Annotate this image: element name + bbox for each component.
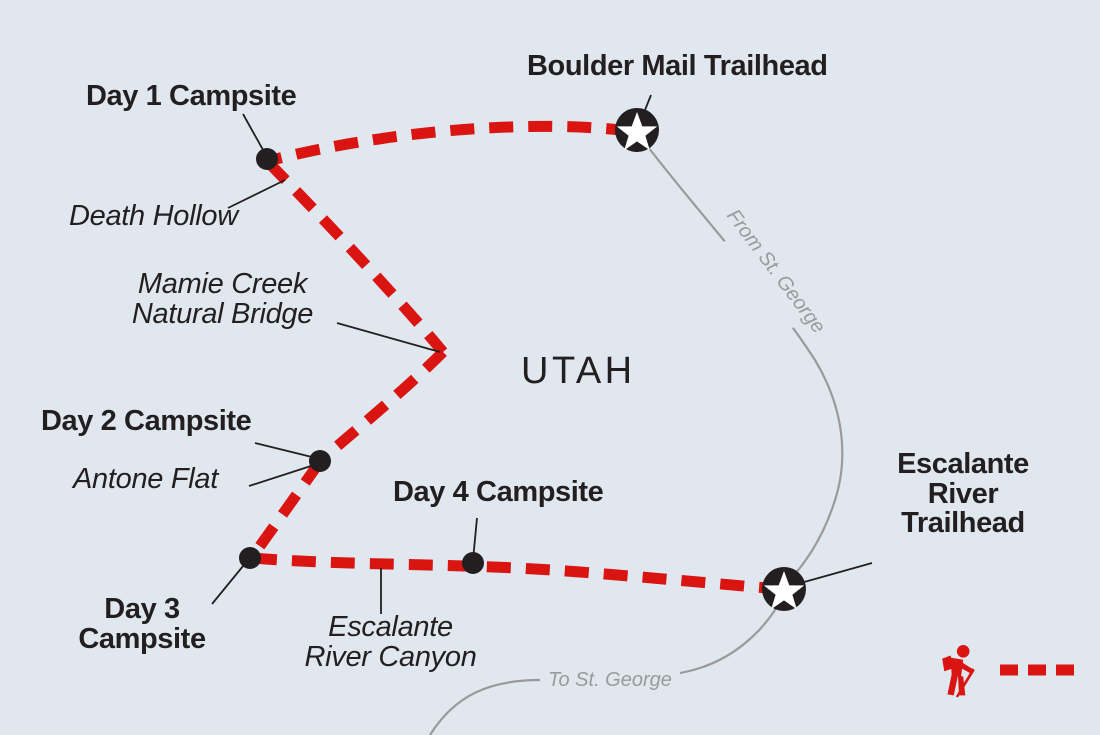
trail-segment-day3-to-escalante xyxy=(253,558,780,589)
label-escalante-river-trailhead: Escalante River Trailhead xyxy=(878,450,1048,539)
campsite-dot-day2 xyxy=(309,450,331,472)
trail-map: From St. George To St. George xyxy=(0,0,1100,735)
legend xyxy=(942,645,1078,698)
label-day4-campsite: Day 4 Campsite xyxy=(393,478,603,508)
trail-segment-boulder-to-day1 xyxy=(272,126,630,160)
label-mamie-creek-natural-bridge: Mamie Creek Natural Bridge xyxy=(100,270,345,329)
hiking-trail xyxy=(252,126,780,589)
trail-segment-day2-to-day3 xyxy=(252,463,319,557)
campsite-dot-day3 xyxy=(239,547,261,569)
trail-segment-mamie-to-day2 xyxy=(321,352,443,460)
leader-mamie-creek xyxy=(337,323,440,352)
road-label-to-st-george: To St. George xyxy=(548,669,672,691)
label-day1-campsite: Day 1 Campsite xyxy=(86,82,296,112)
trailhead-marker-escalante-river xyxy=(762,567,806,611)
label-antone-flat: Antone Flat xyxy=(73,465,218,495)
campsite-dot-day4 xyxy=(462,552,484,574)
hiker-icon xyxy=(942,645,975,698)
label-escalante-river-canyon: Escalante River Canyon xyxy=(283,613,498,672)
trailhead-marker-boulder-mail xyxy=(615,108,659,152)
label-state-utah: UTAH xyxy=(521,352,636,391)
label-boulder-mail-trailhead: Boulder Mail Trailhead xyxy=(527,52,828,82)
label-day3-campsite: Day 3 Campsite xyxy=(42,595,242,654)
label-death-hollow: Death Hollow xyxy=(69,202,238,232)
campsite-dot-day1 xyxy=(256,148,278,170)
road-label-masks xyxy=(540,195,852,691)
label-day2-campsite: Day 2 Campsite xyxy=(41,407,251,437)
campsite-markers xyxy=(239,148,484,574)
leader-day2 xyxy=(255,443,316,458)
